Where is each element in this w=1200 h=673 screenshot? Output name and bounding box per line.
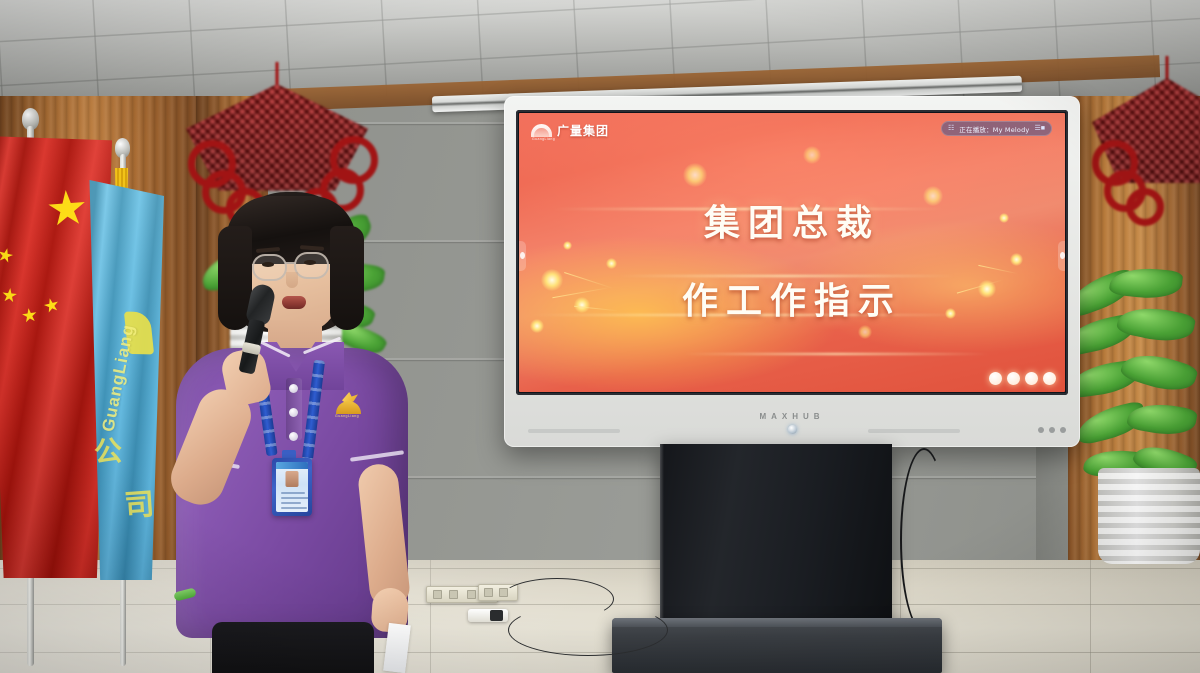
display-brand-label: MAXHUB (759, 412, 824, 421)
nose (286, 272, 298, 288)
company-logo-icon: GuangLiang (531, 124, 552, 137)
bezel-button[interactable] (1038, 427, 1044, 433)
bezel-button[interactable] (1060, 427, 1066, 433)
slide-dot[interactable] (989, 372, 1002, 385)
bezel-buttons[interactable] (1038, 427, 1066, 433)
display-power-cable (900, 448, 948, 632)
display-stand-column (660, 444, 892, 647)
printed-notes (383, 623, 411, 673)
shirt-button (289, 432, 298, 441)
right-sidebar-handle-icon[interactable] (1058, 241, 1065, 271)
speaker-grille-left (528, 429, 620, 433)
presenter: GuangLiang (168, 192, 416, 673)
bluetooth-icon: ☷ (948, 125, 954, 132)
speaker-grille-right (868, 429, 960, 433)
bezel-button[interactable] (1049, 427, 1055, 433)
mouth-speaking (282, 296, 306, 309)
floor-cable-loop-2 (508, 604, 668, 656)
signal-battery-icon: ☰■ (1034, 125, 1045, 132)
display-screen[interactable]: GuangLiang 广量集团 ☷ 正在播放：My Melody ☰■ 集团总裁… (516, 110, 1068, 395)
logo-text: 广量集团 (557, 122, 609, 139)
slide-title-line1: 集团总裁 (519, 194, 1065, 246)
potted-plant-right (1062, 268, 1200, 598)
slide-dot[interactable] (1043, 372, 1056, 385)
interactive-display-panel[interactable]: GuangLiang 广量集团 ☷ 正在播放：My Melody ☰■ 集团总裁… (504, 96, 1080, 447)
slide-dot[interactable] (1025, 372, 1038, 385)
shirt-button (289, 408, 298, 417)
left-sidebar-handle-icon[interactable] (519, 241, 526, 271)
slide-title-line2: 作工作指示 (519, 272, 1065, 324)
badge-photo (286, 471, 299, 487)
power-led-icon[interactable] (788, 425, 797, 434)
plug-head (490, 610, 503, 621)
chinese-knot-right (1092, 56, 1200, 226)
presentation-slide[interactable]: GuangLiang 广量集团 ☷ 正在播放：My Melody ☰■ 集团总裁… (519, 113, 1065, 392)
slide-logo: GuangLiang 广量集团 (531, 122, 609, 139)
conference-room-photo: GuangLiang 公 司 (0, 0, 1200, 673)
chest-emblem: GuangLiang (334, 392, 364, 416)
slide-dot[interactable] (1007, 372, 1020, 385)
logo-subtext: GuangLiang (532, 137, 555, 141)
glasses-lens-right (294, 252, 329, 279)
trousers (212, 622, 374, 673)
display-bezel-bottom: MAXHUB (504, 399, 1080, 447)
employee-id-badge (272, 458, 312, 516)
hair-side-right (330, 226, 364, 330)
shirt-button (289, 384, 298, 393)
status-badge[interactable]: ☷ 正在播放：My Melody ☰■ (941, 121, 1052, 136)
now-playing-text: 正在播放：My Melody (959, 124, 1029, 134)
glasses-lens-left (252, 254, 287, 281)
slide-indicator-dots[interactable] (989, 372, 1056, 385)
